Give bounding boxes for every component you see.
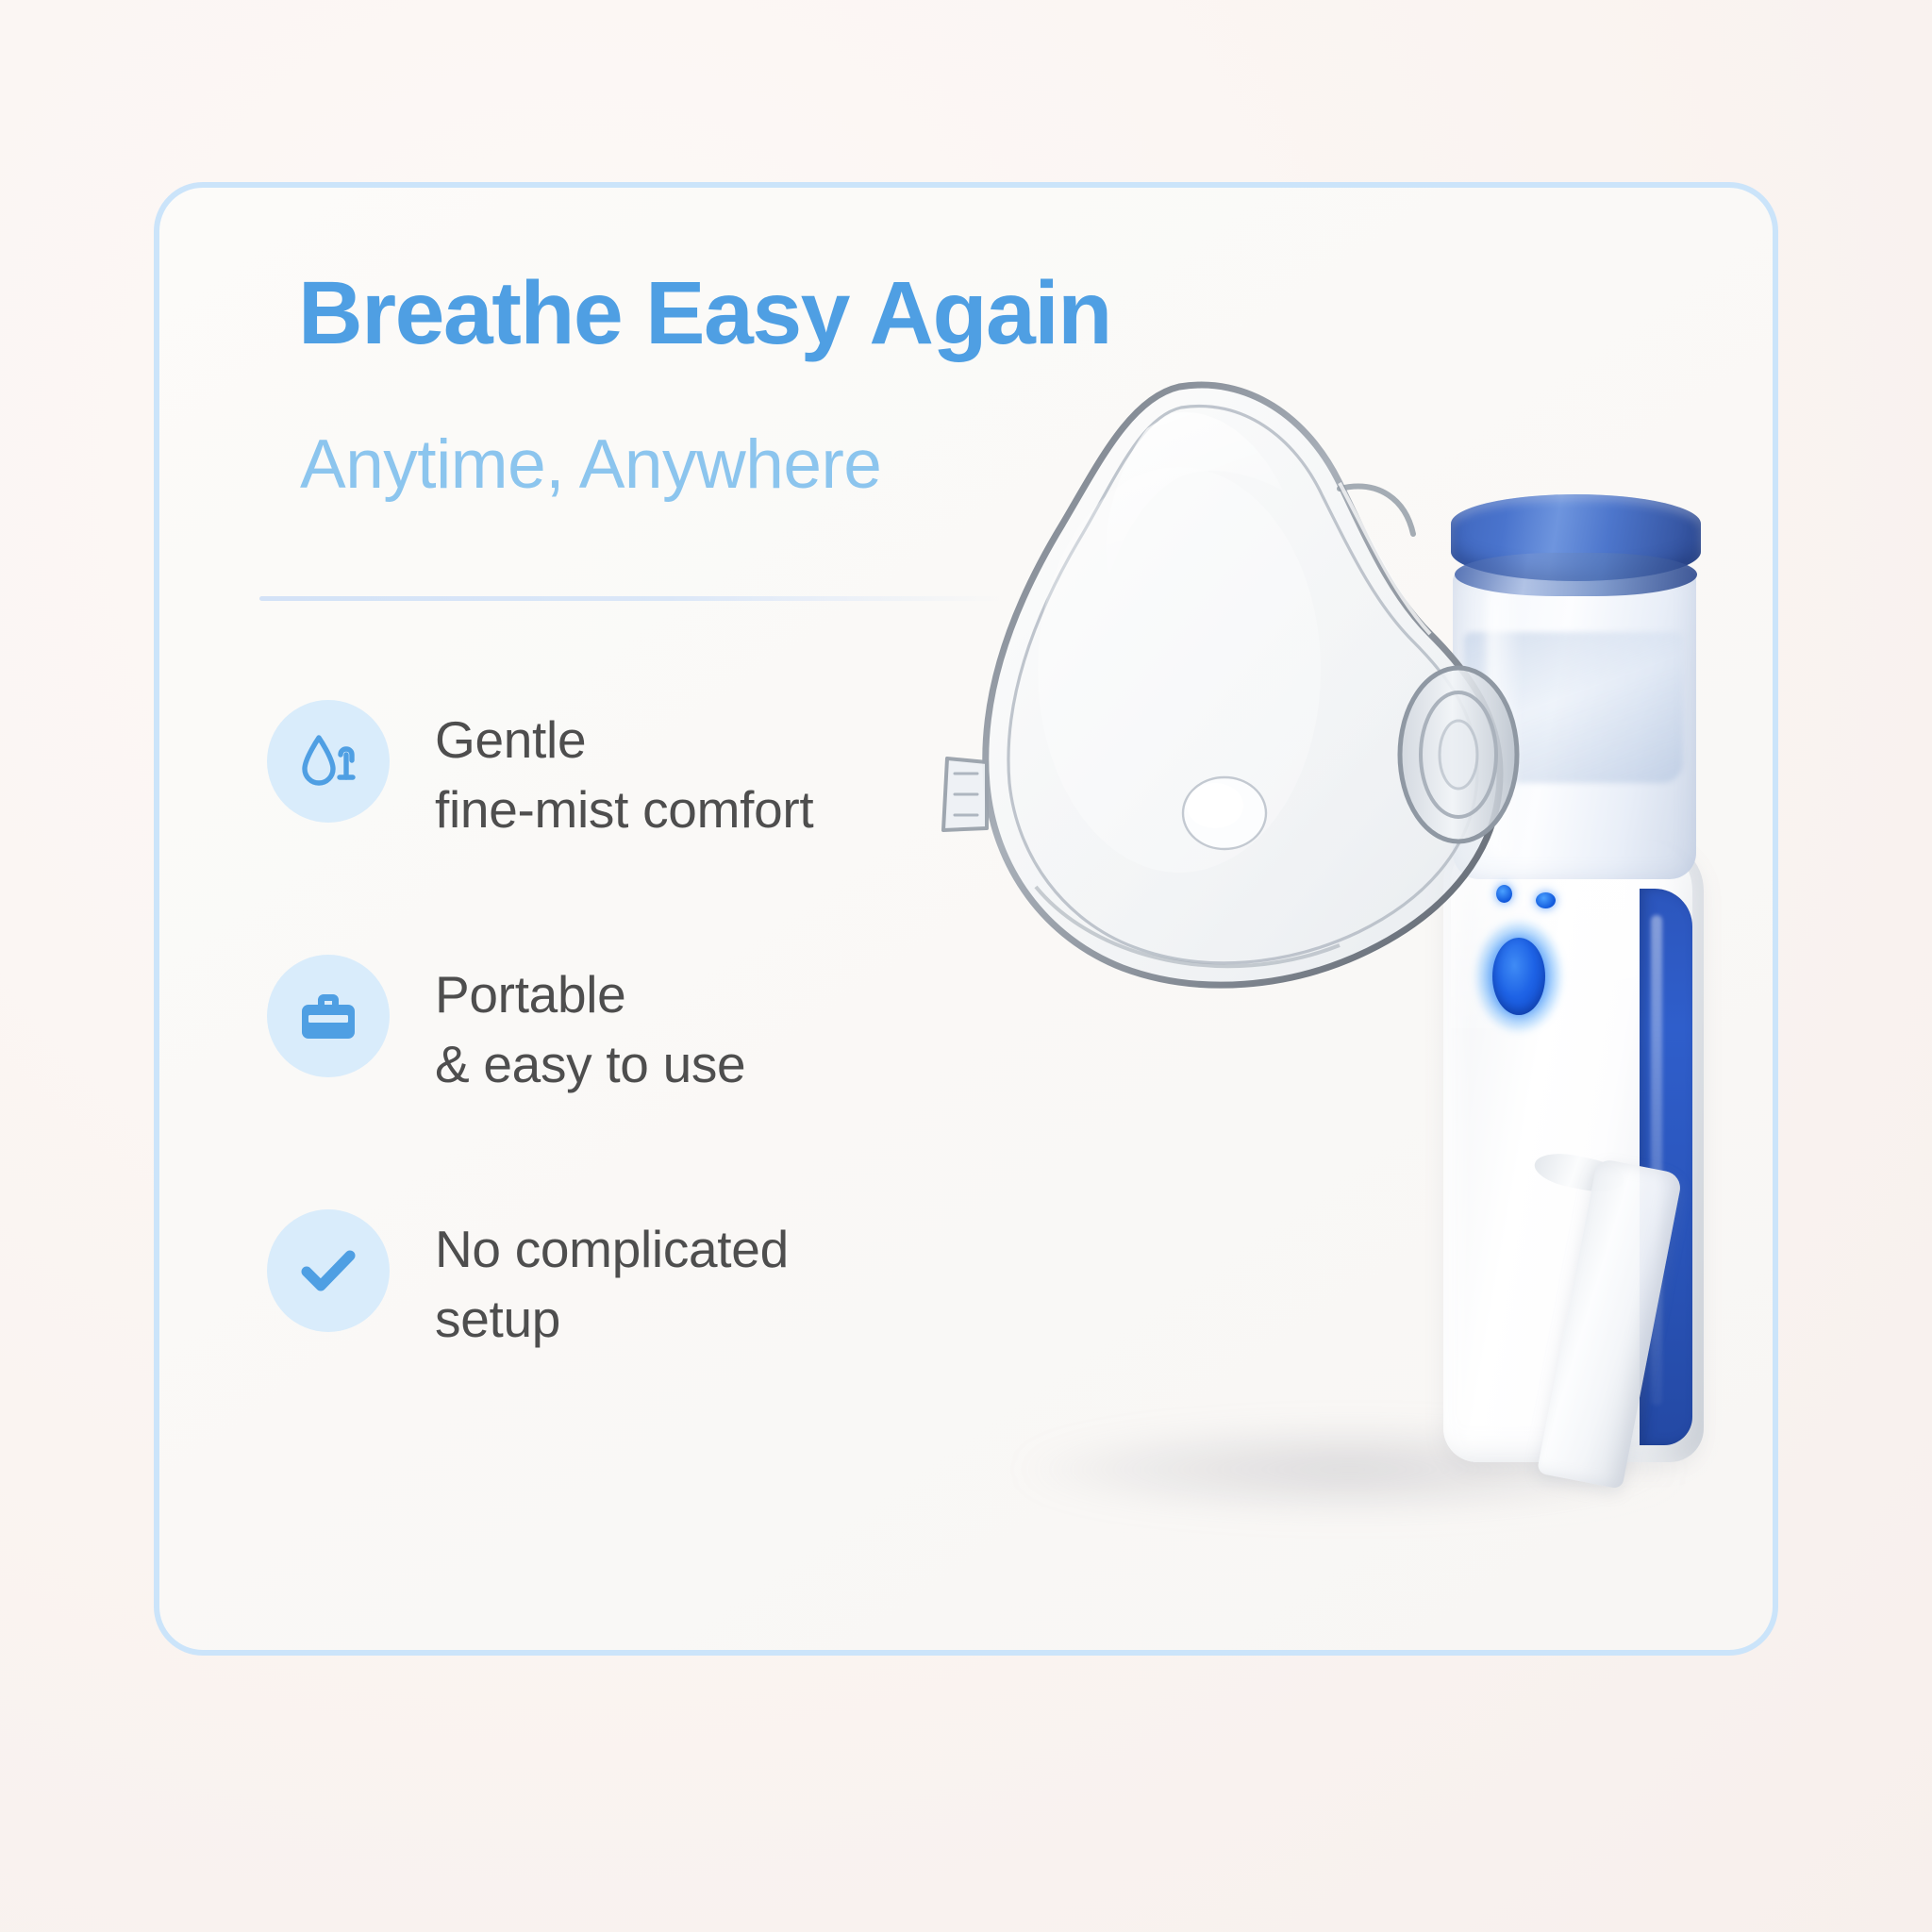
checkmark-icon	[267, 1209, 390, 1332]
stripe-highlight	[1651, 915, 1662, 1406]
feature-label: No complicated setup	[435, 1209, 789, 1354]
page-title: Breathe Easy Again	[298, 267, 1111, 361]
page-subtitle: Anytime, Anywhere	[300, 429, 881, 502]
product-image-nebulizer	[934, 443, 1802, 1528]
water-drop-mist-icon	[267, 700, 390, 823]
feature-item-portable: Portable & easy to use	[267, 955, 745, 1099]
section-divider	[259, 596, 1005, 601]
promo-banner: Breathe Easy Again Anytime, Anywhere Gen…	[0, 0, 1932, 1932]
feature-item-no-setup: No complicated setup	[267, 1209, 789, 1354]
briefcase-icon	[267, 955, 390, 1077]
feature-label: Portable & easy to use	[435, 955, 745, 1099]
feature-item-gentle-mist: Gentle fine-mist comfort	[267, 700, 813, 844]
feature-label: Gentle fine-mist comfort	[435, 700, 813, 844]
face-mask	[896, 358, 1613, 1160]
